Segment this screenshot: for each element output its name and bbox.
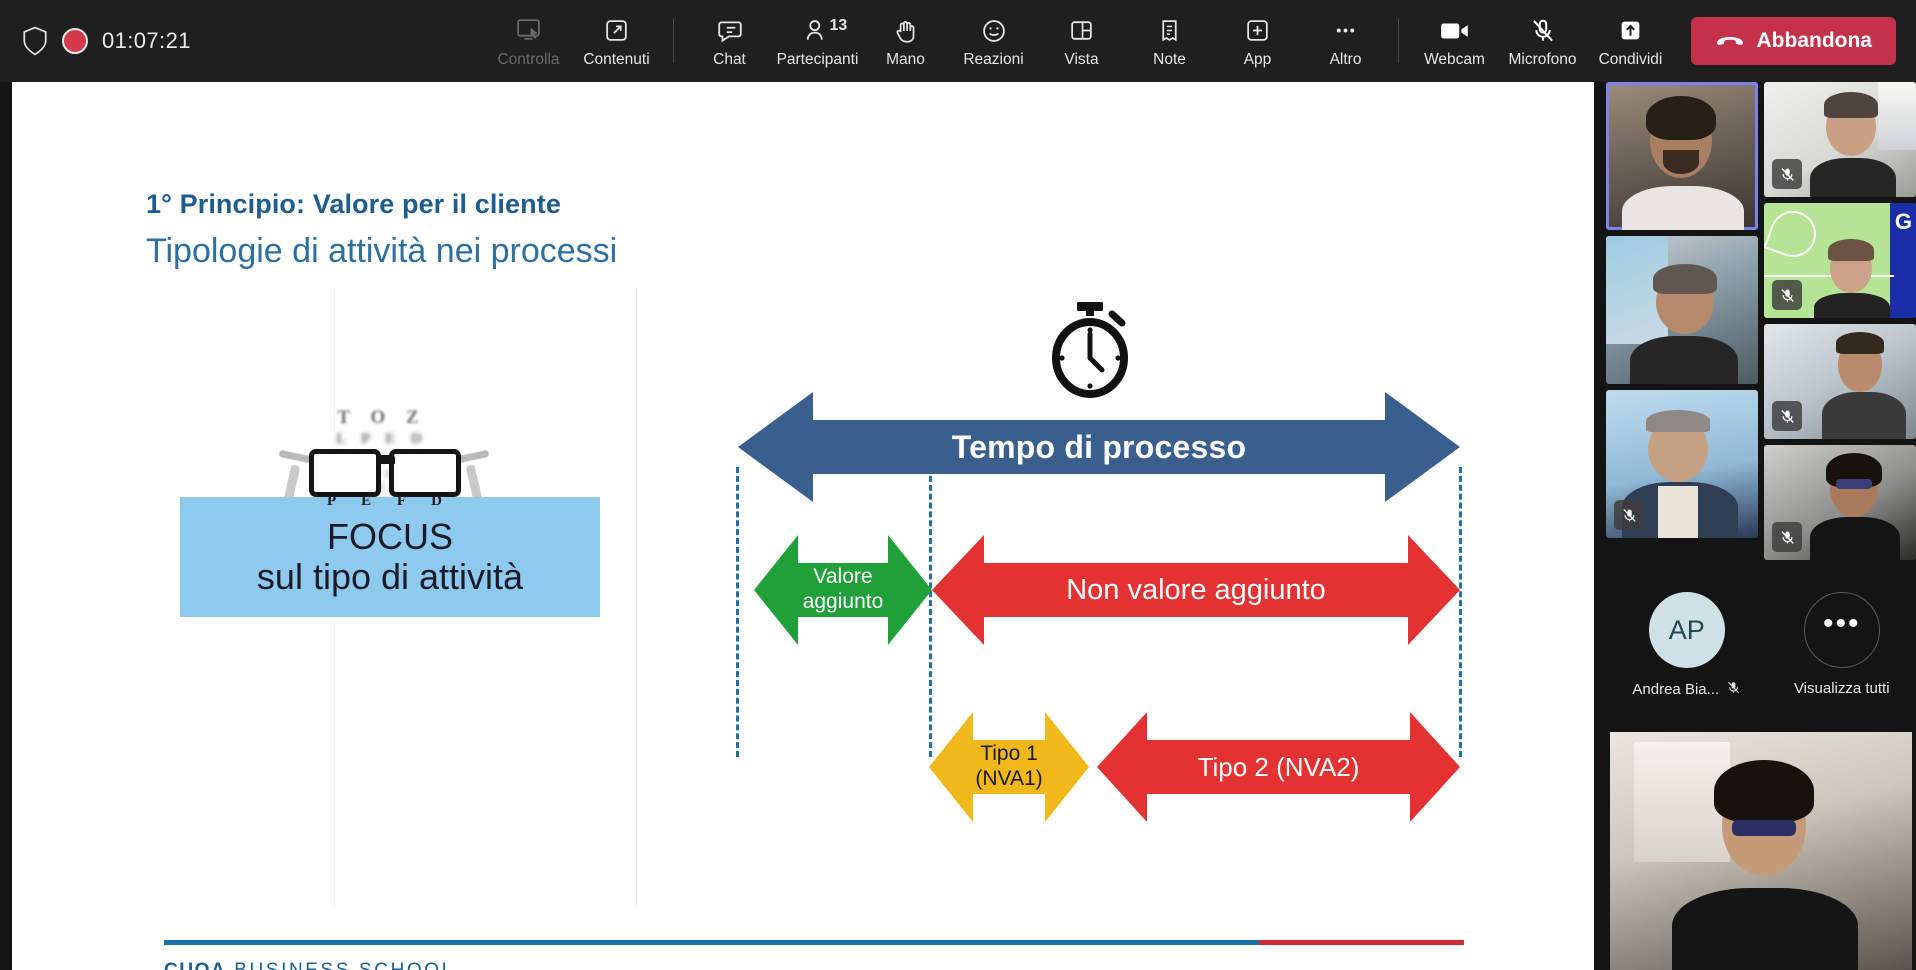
participants-count: 13 xyxy=(830,17,848,35)
more-button[interactable]: Altro xyxy=(1304,8,1388,74)
webcam-button-label: Webcam xyxy=(1424,52,1485,68)
slide-title: 1° Principio: Valore per il cliente xyxy=(146,189,561,220)
microphone-button[interactable]: Microfono xyxy=(1501,8,1585,74)
people-icon: 13 xyxy=(804,15,832,47)
share-button[interactable]: Condividi xyxy=(1589,8,1673,74)
shield-icon xyxy=(22,26,48,56)
mic-muted-icon xyxy=(1772,159,1802,189)
microphone-muted-icon xyxy=(1529,15,1557,47)
raise-hand-button-label: Mano xyxy=(886,52,925,68)
arrow-tempo-di-processo: Tempo di processo xyxy=(738,392,1460,502)
chat-button[interactable]: Chat xyxy=(688,8,772,74)
apps-button[interactable]: App xyxy=(1216,8,1300,74)
focus-line-1: FOCUS xyxy=(327,517,453,557)
chat-bubble-icon xyxy=(716,15,744,47)
focus-line-2: sul tipo di attività xyxy=(257,557,523,597)
view-button[interactable]: Vista xyxy=(1040,8,1124,74)
arrow-non-valore-aggiunto: Non valore aggiunto xyxy=(932,535,1460,645)
glasses-frame-icon: P E F D xyxy=(285,443,480,505)
slide-guide-right xyxy=(636,287,637,907)
share-button-label: Condividi xyxy=(1599,52,1663,68)
footer-rule-blue xyxy=(164,940,1259,945)
reactions-button[interactable]: Reazioni xyxy=(952,8,1036,74)
view-all-label: Visualizza tutti xyxy=(1794,680,1890,697)
participants-rail: G xyxy=(1606,82,1916,970)
leave-call-button[interactable]: Abbandona xyxy=(1691,17,1897,65)
avatar xyxy=(1606,236,1758,384)
participant-tile-6[interactable] xyxy=(1606,390,1758,538)
participant-tile-large[interactable] xyxy=(1610,732,1912,970)
ellipsis-icon xyxy=(1332,15,1359,47)
view-all-entry[interactable]: ••• Visualizza tutti xyxy=(1794,592,1890,697)
recording-timer: 01:07:21 xyxy=(102,28,191,54)
participants-button[interactable]: 13 Partecipanti xyxy=(776,8,860,74)
toolbar-right-group: Webcam Microfono Condividi xyxy=(1388,8,1916,74)
avatar xyxy=(1606,82,1758,230)
mic-muted-icon xyxy=(1772,280,1802,310)
ellipsis-icon: ••• xyxy=(1804,592,1880,668)
hangup-phone-icon xyxy=(1715,29,1745,53)
rail-extras: AP Andrea Bia... ••• Visualizza tutti xyxy=(1606,592,1916,699)
participants-button-label: Partecipanti xyxy=(777,52,859,68)
mic-muted-icon xyxy=(1772,522,1802,552)
notes-button-label: Note xyxy=(1153,52,1186,68)
content-button-label: Contenuti xyxy=(583,52,649,68)
recording-indicator-icon xyxy=(62,28,88,54)
arrow-tipo1-line2: (NVA1) xyxy=(975,767,1042,790)
toolbar-divider-right xyxy=(1398,19,1399,63)
arrow-valore-aggiunto: Valore aggiunto xyxy=(754,535,932,645)
eye-chart-row: T O Z xyxy=(337,407,426,429)
footer-rule-red xyxy=(1259,940,1464,945)
participant-tile-1[interactable] xyxy=(1606,82,1758,230)
dashed-guide-left xyxy=(736,467,739,757)
content-share-icon xyxy=(603,15,630,47)
eye-chart-sharp-row: P E F D xyxy=(325,493,455,510)
control-button: Controlla xyxy=(487,8,571,74)
share-up-arrow-icon xyxy=(1617,15,1644,47)
control-button-label: Controlla xyxy=(497,52,559,68)
apps-plus-icon xyxy=(1244,15,1271,47)
mic-muted-icon xyxy=(1614,500,1644,530)
cuoa-logo-rest: BUSINESS SCHOOL xyxy=(226,960,454,970)
glasses-bridge xyxy=(378,455,395,464)
participant-tile-4[interactable] xyxy=(1606,236,1758,384)
participant-column-left xyxy=(1606,82,1758,560)
arrow-tipo-2: Tipo 2 (NVA2) xyxy=(1097,712,1460,822)
participant-tile-3[interactable]: G xyxy=(1764,203,1916,318)
glasses-lens-left xyxy=(309,449,381,497)
screen-control-icon xyxy=(515,15,542,47)
participant-tile-2[interactable] xyxy=(1764,82,1916,197)
stopwatch-icon xyxy=(1042,300,1138,400)
layout-view-icon xyxy=(1068,15,1095,47)
participant-video-grid: G xyxy=(1606,82,1916,552)
webcam-button[interactable]: Webcam xyxy=(1413,8,1497,74)
arrow-tipo2-label: Tipo 2 (NVA2) xyxy=(1198,752,1360,783)
arrow-valore-label: Valore aggiunto xyxy=(803,565,884,615)
chat-button-label: Chat xyxy=(713,52,746,68)
leave-call-label: Abbandona xyxy=(1757,29,1873,53)
avatar-name: Andrea Bia... xyxy=(1632,681,1719,698)
camera-icon xyxy=(1439,15,1471,47)
avatar xyxy=(1610,732,1912,970)
cuoa-logo-bold: CUOA xyxy=(164,960,226,970)
apps-button-label: App xyxy=(1244,52,1272,68)
content-button[interactable]: Contenuti xyxy=(575,8,659,74)
glasses-lens-right xyxy=(389,449,461,497)
arrow-valore-line2: aggiunto xyxy=(803,590,884,613)
avatar-label-row: Andrea Bia... xyxy=(1632,680,1741,699)
participant-tile-5[interactable] xyxy=(1764,324,1916,439)
mic-muted-icon xyxy=(1726,680,1741,699)
shared-slide-stage[interactable]: 1° Principio: Valore per il cliente Tipo… xyxy=(12,82,1594,970)
smiley-reactions-icon xyxy=(980,15,1008,47)
microphone-button-label: Microfono xyxy=(1508,52,1576,68)
raise-hand-icon xyxy=(892,15,920,47)
focus-callout-box: FOCUS sul tipo di attività xyxy=(180,497,600,617)
arrow-tempo-label: Tempo di processo xyxy=(952,429,1246,466)
more-button-label: Altro xyxy=(1330,52,1362,68)
mic-muted-icon xyxy=(1772,401,1802,431)
arrow-tipo-1: Tipo 1 (NVA1) xyxy=(929,712,1089,822)
arrow-non-valore-label: Non valore aggiunto xyxy=(1066,574,1326,607)
meeting-toolbar: 01:07:21 Controlla Contenuti xyxy=(0,0,1916,82)
participant-avatar-entry[interactable]: AP Andrea Bia... xyxy=(1632,592,1741,699)
arrow-valore-line1: Valore xyxy=(813,565,872,588)
arrow-tipo1-line1: Tipo 1 xyxy=(980,742,1038,765)
reactions-button-label: Reazioni xyxy=(963,52,1023,68)
slide-subtitle: Tipologie di attività nei processi xyxy=(146,232,617,271)
cuoa-logo: CUOA BUSINESS SCHOOL xyxy=(164,960,455,970)
toolbar-center-group: Controlla Contenuti Chat xyxy=(487,8,1388,74)
footer-rule xyxy=(164,940,1464,945)
toolbar-left-group: 01:07:21 xyxy=(0,26,487,56)
arrow-tipo1-label: Tipo 1 (NVA1) xyxy=(975,742,1042,792)
raise-hand-button[interactable]: Mano xyxy=(864,8,948,74)
avatar: AP xyxy=(1649,592,1725,668)
participant-column-right: G xyxy=(1764,82,1916,560)
participant-tile-7[interactable] xyxy=(1764,445,1916,560)
toolbar-divider xyxy=(673,19,674,63)
view-button-label: Vista xyxy=(1064,52,1098,68)
notes-icon xyxy=(1156,15,1183,47)
notes-button[interactable]: Note xyxy=(1128,8,1212,74)
